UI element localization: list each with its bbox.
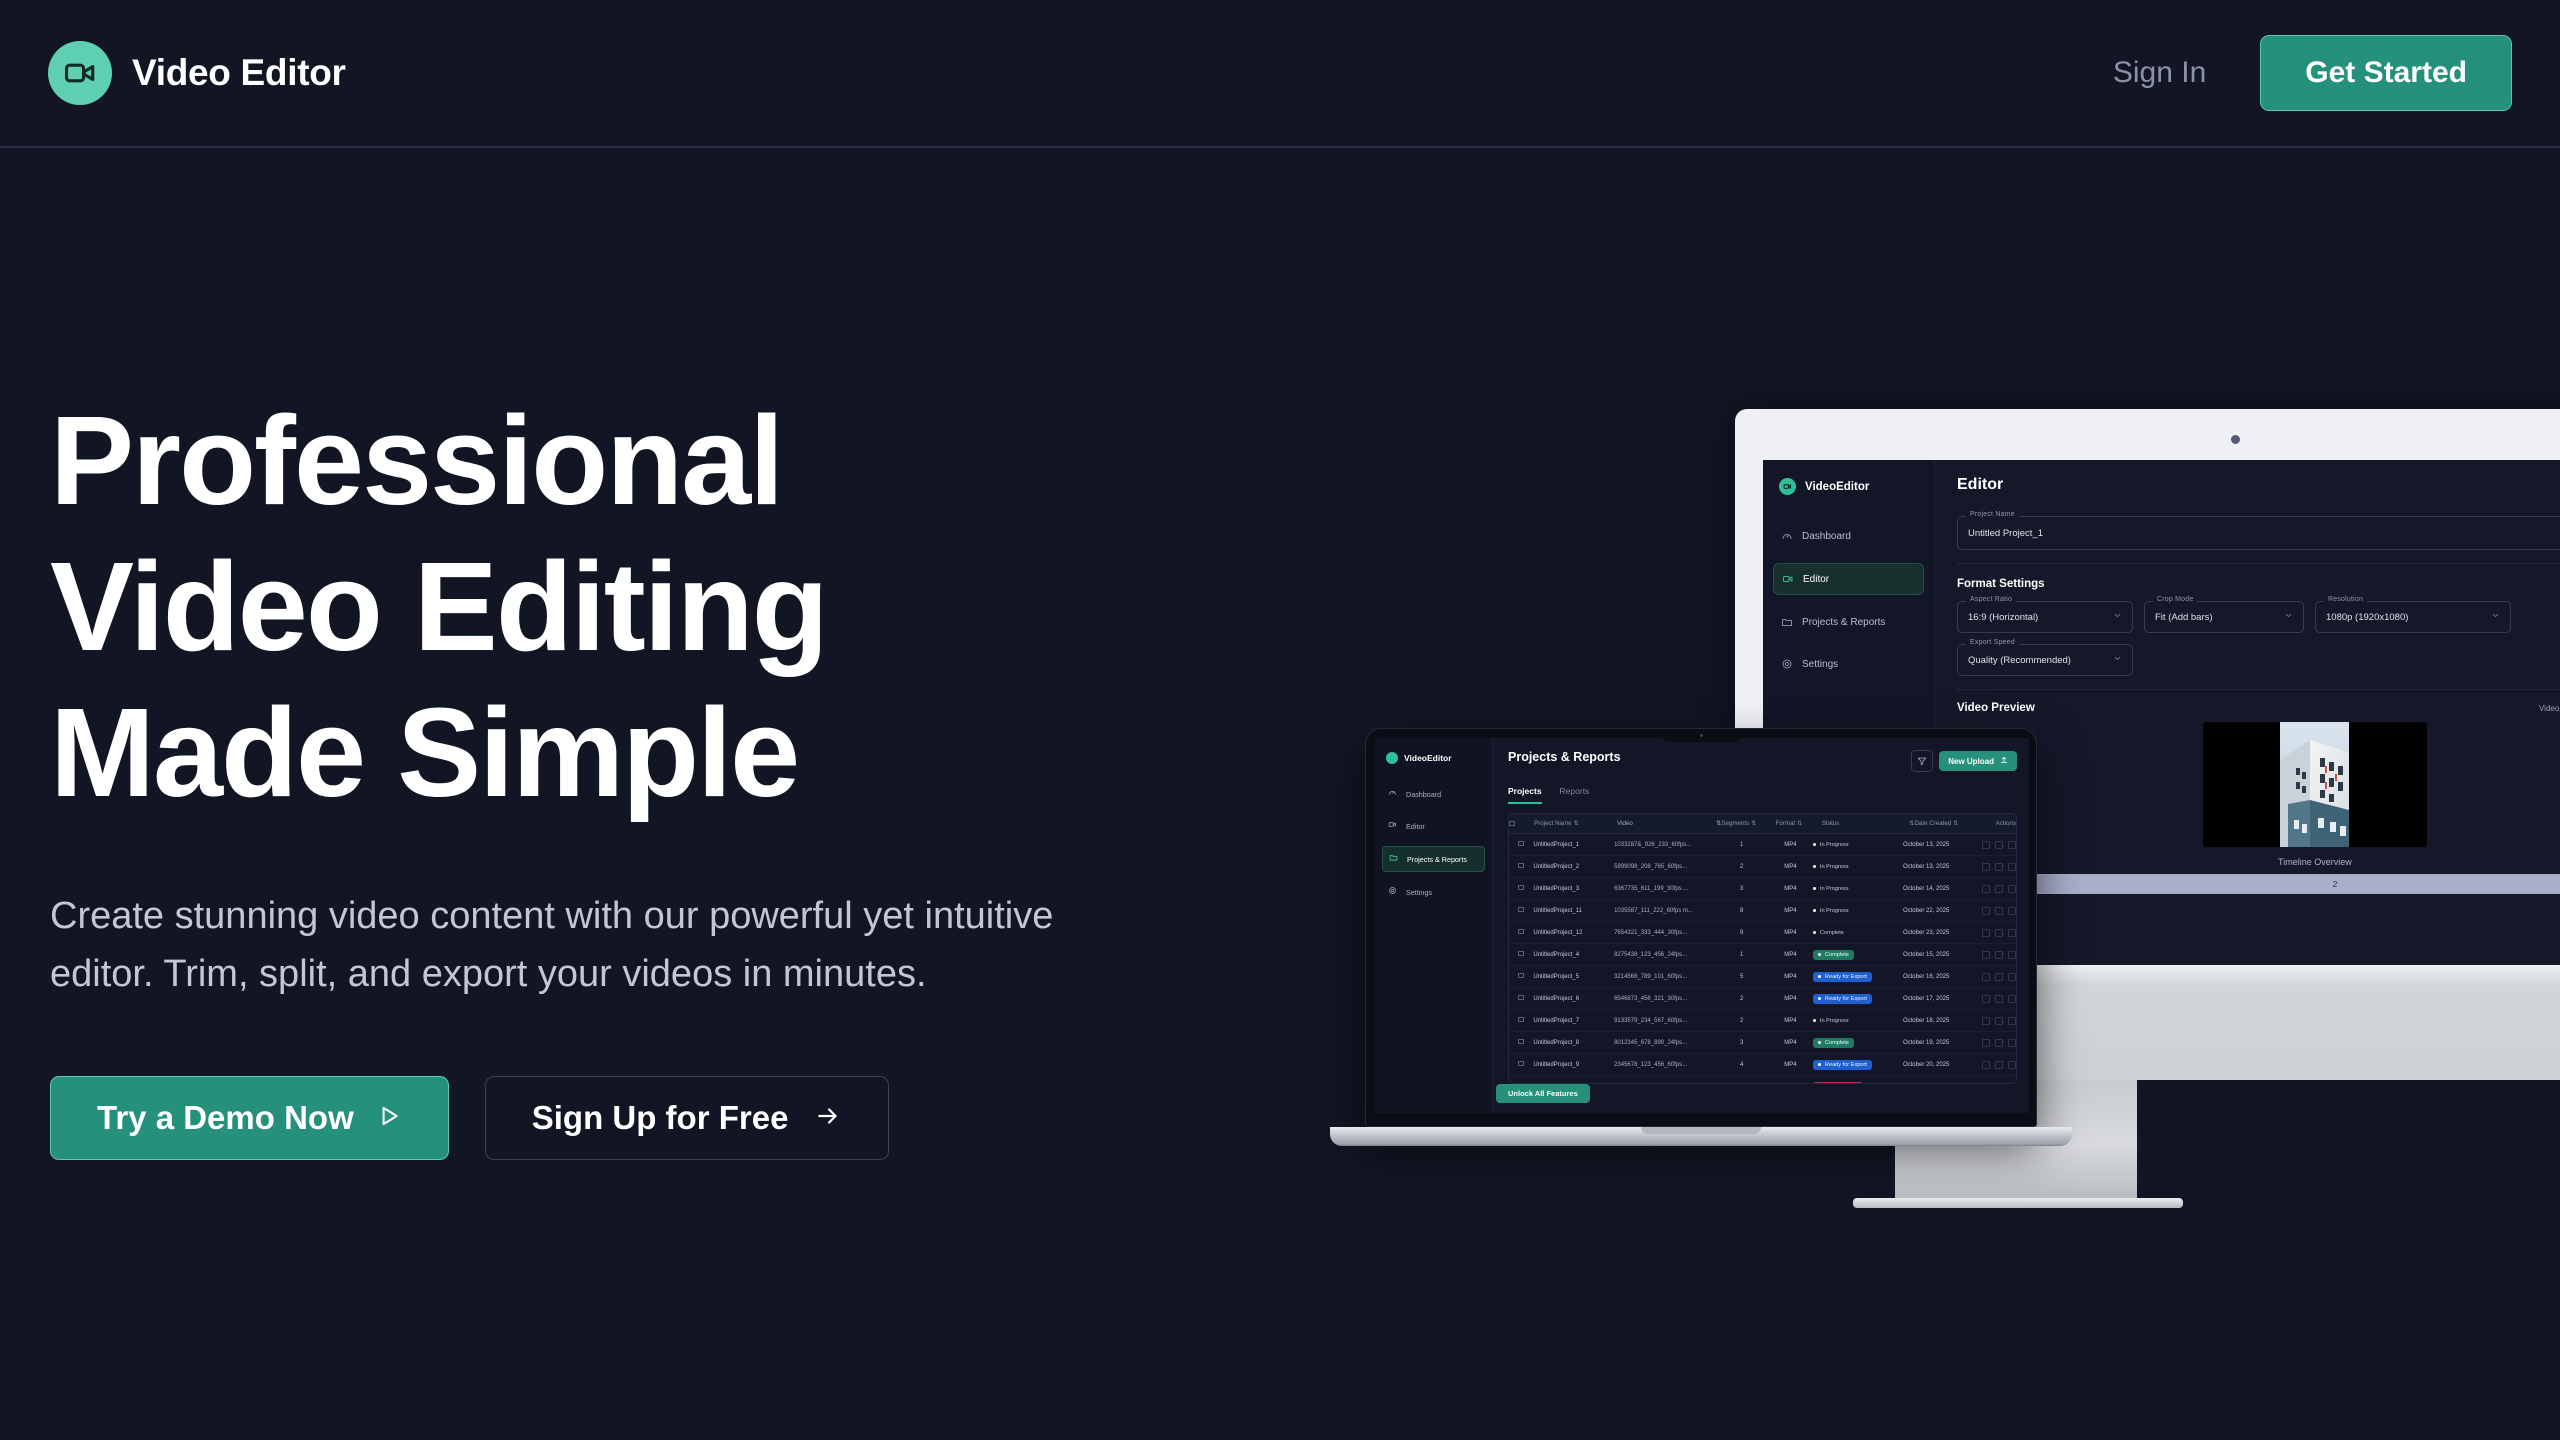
delete-icon[interactable] bbox=[2008, 973, 2016, 981]
row-checkbox[interactable] bbox=[1509, 841, 1533, 849]
cell-segments: 5 bbox=[1715, 974, 1768, 980]
project-name-field[interactable]: Project Name Untitled Project_1 bbox=[1957, 516, 2560, 550]
monitor-base bbox=[1853, 1198, 2183, 1208]
cell-actions[interactable] bbox=[1978, 1017, 2016, 1025]
webcam-icon bbox=[1662, 729, 1740, 742]
hero-section: Professional Video Editing Made Simple C… bbox=[0, 148, 1200, 1160]
cell-segments: 3 bbox=[1715, 886, 1768, 892]
column-status[interactable]: Status⇅ bbox=[1822, 820, 1915, 827]
cell-actions[interactable] bbox=[1978, 863, 2016, 871]
cell-status: Ready for Export bbox=[1813, 1060, 1903, 1070]
cell-video: 8012345_678_890_24fps... bbox=[1614, 1040, 1715, 1046]
sidebar-item-dashboard[interactable]: Dashboard bbox=[1382, 782, 1485, 806]
video-player[interactable] bbox=[2203, 722, 2427, 847]
cell-format: MP4 bbox=[1768, 974, 1813, 980]
column-project-name[interactable]: Project Name⇅ bbox=[1534, 820, 1617, 827]
cell-date-created: October 14, 2025 bbox=[1903, 886, 1978, 892]
edit-icon[interactable] bbox=[1982, 951, 1990, 959]
video-camera-icon bbox=[1388, 820, 1400, 832]
column-actions: Actions bbox=[1992, 820, 2016, 827]
export-speed-value: Quality (Recommended) bbox=[1968, 655, 2071, 666]
table-body: UntitledProject_11033287&_926_233_60fps.… bbox=[1509, 834, 2016, 1084]
cell-video: 1033287&_926_233_60fps... bbox=[1614, 842, 1715, 848]
cell-format: MP4 bbox=[1768, 1018, 1813, 1024]
player-size-control[interactable]: Video player size bbox=[2539, 704, 2560, 713]
cell-format: MP4 bbox=[1768, 908, 1813, 914]
tab-projects[interactable]: Projects bbox=[1508, 786, 1542, 804]
laptop-mockup: VideoEditor Dashboard Editor Projects & … bbox=[1365, 728, 2072, 1146]
delete-icon[interactable] bbox=[2008, 1039, 2016, 1047]
table-header: Project Name⇅ Video⇅ Segments⇅ Format⇅ S… bbox=[1509, 814, 2016, 834]
cell-format: MP4 bbox=[1768, 886, 1813, 892]
table-row[interactable]: UntitledProject_53214568_789_101_60fps..… bbox=[1509, 966, 2016, 988]
edit-icon[interactable] bbox=[1982, 929, 1990, 937]
table-row[interactable]: UntitledProject_25999098_208_765_60fps..… bbox=[1509, 856, 2016, 878]
cell-project-name: UntitledProject_2 bbox=[1533, 864, 1614, 870]
download-icon[interactable] bbox=[1995, 1039, 2003, 1047]
cell-actions[interactable] bbox=[1978, 1039, 2016, 1047]
column-date-created[interactable]: Date Created⇅ bbox=[1914, 820, 1991, 827]
download-icon[interactable] bbox=[1995, 973, 2003, 981]
site-header: Video Editor Sign In Get Started bbox=[0, 0, 2560, 148]
edit-icon[interactable] bbox=[1982, 995, 1990, 1003]
cell-segments: 2 bbox=[1715, 864, 1768, 870]
edit-icon[interactable] bbox=[1982, 1017, 1990, 1025]
cell-segments: 1 bbox=[1715, 842, 1768, 848]
divider bbox=[1957, 563, 2560, 564]
crop-mode-value: Fit (Add bars) bbox=[2155, 612, 2213, 623]
sidebar-label: Editor bbox=[1406, 822, 1425, 831]
aspect-ratio-select[interactable]: Aspect Ratio 16:9 (Horizontal) bbox=[1957, 601, 2133, 633]
cell-status: In Progress bbox=[1813, 906, 1903, 916]
row-checkbox[interactable] bbox=[1509, 929, 1533, 937]
table-row[interactable]: UntitledProject_92345678_123_456_60fps..… bbox=[1509, 1054, 2016, 1076]
select-all-checkbox[interactable] bbox=[1509, 820, 1534, 827]
cell-segments: 2 bbox=[1715, 996, 1768, 1002]
delete-icon[interactable] bbox=[2008, 907, 2016, 915]
cell-video: 9133579_234_567_60fps... bbox=[1614, 1018, 1715, 1024]
sidebar-label: Settings bbox=[1406, 888, 1432, 897]
row-checkbox[interactable] bbox=[1509, 1061, 1533, 1069]
cell-date-created: October 15, 2025 bbox=[1903, 952, 1978, 958]
cell-format: MP4 bbox=[1768, 996, 1813, 1002]
sort-icon: ⇅ bbox=[1751, 820, 1756, 827]
cell-date-created: October 13, 2025 bbox=[1903, 842, 1978, 848]
cell-status: In Progress bbox=[1813, 1016, 1903, 1026]
projects-table: Project Name⇅ Video⇅ Segments⇅ Format⇅ S… bbox=[1508, 813, 2017, 1084]
video-preview-header: Video Preview Video player size bbox=[1957, 702, 2560, 714]
laptop-lid: VideoEditor Dashboard Editor Projects & … bbox=[1365, 728, 2037, 1127]
sidebar-label: Settings bbox=[1802, 659, 1838, 670]
cell-actions[interactable] bbox=[1978, 951, 2016, 959]
cell-segments: 2 bbox=[1715, 1018, 1768, 1024]
cell-video: 2345678_123_456_60fps... bbox=[1614, 1062, 1715, 1068]
brand-logo-group[interactable]: Video Editor bbox=[48, 41, 346, 105]
download-icon[interactable] bbox=[1995, 841, 2003, 849]
row-checkbox[interactable] bbox=[1509, 973, 1533, 981]
cell-date-created: October 18, 2025 bbox=[1903, 1018, 1978, 1024]
monitor-brand-label: VideoEditor bbox=[1805, 481, 1869, 493]
gear-icon bbox=[1781, 658, 1793, 670]
cell-format: MP4 bbox=[1768, 1062, 1813, 1068]
edit-icon[interactable] bbox=[1982, 841, 1990, 849]
resolution-select[interactable]: Resolution 1080p (1920x1080) bbox=[2315, 601, 2511, 633]
play-triangle-icon bbox=[376, 1099, 402, 1137]
edit-icon[interactable] bbox=[1982, 885, 1990, 893]
row-checkbox[interactable] bbox=[1509, 951, 1533, 959]
cell-actions[interactable] bbox=[1978, 907, 2016, 915]
column-segments[interactable]: Segments⇅ bbox=[1721, 820, 1775, 827]
cell-project-name: UntitledProject_11 bbox=[1533, 908, 1614, 914]
cell-video: 5999098_208_765_60fps... bbox=[1614, 864, 1715, 870]
delete-icon[interactable] bbox=[2008, 995, 2016, 1003]
sidebar-item-projects-reports[interactable]: Projects & Reports bbox=[1382, 846, 1485, 872]
arrow-right-icon bbox=[814, 1099, 842, 1137]
cell-format: MP4 bbox=[1768, 842, 1813, 848]
divider bbox=[1957, 689, 2560, 690]
cell-segments: 8 bbox=[1715, 908, 1768, 914]
resolution-value: 1080p (1920x1080) bbox=[2326, 612, 2408, 623]
column-format[interactable]: Format⇅ bbox=[1775, 820, 1821, 827]
sign-up-label: Sign Up for Free bbox=[532, 1099, 789, 1137]
laptop-sidebar: VideoEditor Dashboard Editor Projects & … bbox=[1375, 738, 1493, 1113]
chevron-down-icon bbox=[2113, 611, 2122, 623]
cell-status: Ready for Export bbox=[1813, 972, 1903, 982]
sidebar-label: Dashboard bbox=[1406, 790, 1441, 799]
preview-building-photo bbox=[2280, 722, 2349, 847]
table-row[interactable]: UntitledProject_88012345_678_890_24fps..… bbox=[1509, 1032, 2016, 1054]
sort-icon: ⇅ bbox=[1953, 820, 1958, 827]
folder-icon bbox=[1781, 616, 1793, 628]
column-video[interactable]: Video⇅ bbox=[1617, 820, 1721, 827]
delete-icon[interactable] bbox=[2008, 1017, 2016, 1025]
table-row[interactable]: UntitledProject_105676543_987_654_30fps.… bbox=[1509, 1076, 2016, 1084]
sort-icon: ⇅ bbox=[1574, 820, 1579, 827]
edit-icon[interactable] bbox=[1982, 1039, 1990, 1047]
unlock-all-features-button[interactable]: Unlock All Features bbox=[1496, 1084, 1590, 1103]
sidebar-item-editor[interactable]: Editor bbox=[1773, 563, 1924, 595]
aspect-ratio-label: Aspect Ratio bbox=[1966, 596, 2016, 603]
export-speed-select[interactable]: Export Speed Quality (Recommended) bbox=[1957, 644, 2133, 676]
tab-reports[interactable]: Reports bbox=[1560, 786, 1590, 804]
hero-subtitle: Create stunning video content with our p… bbox=[50, 888, 1130, 1004]
edit-icon[interactable] bbox=[1982, 863, 1990, 871]
download-icon[interactable] bbox=[1995, 907, 2003, 915]
cell-format: MP4 bbox=[1768, 930, 1813, 936]
laptop-main: Projects & Reports New Upload Projects R… bbox=[1493, 738, 2029, 1113]
cell-actions[interactable] bbox=[1978, 841, 2016, 849]
cell-date-created: October 20, 2025 bbox=[1903, 1062, 1978, 1068]
gear-icon bbox=[1388, 886, 1400, 898]
header-actions: Sign In Get Started bbox=[2113, 35, 2512, 111]
format-settings-row-2: Export Speed Quality (Recommended) bbox=[1957, 644, 2560, 676]
table-row[interactable]: UntitledProject_127654321_333_444_30fps.… bbox=[1509, 922, 2016, 944]
sidebar-label: Dashboard bbox=[1802, 531, 1851, 542]
crop-mode-label: Crop Mode bbox=[2153, 596, 2197, 603]
delete-icon[interactable] bbox=[2008, 1061, 2016, 1069]
hero-cta-group: Try a Demo Now Sign Up for Free bbox=[50, 1076, 1200, 1160]
delete-icon[interactable] bbox=[2008, 885, 2016, 893]
cell-actions[interactable] bbox=[1978, 1061, 2016, 1069]
laptop-top-actions: New Upload bbox=[1911, 750, 2017, 772]
page-title: Professional Video Editing Made Simple bbox=[50, 388, 1200, 826]
table-row[interactable]: UntitledProject_48275438_123_456_24fps..… bbox=[1509, 944, 2016, 966]
chevron-down-icon bbox=[2491, 611, 2500, 623]
laptop-nav: Dashboard Editor Projects & Reports Sett… bbox=[1375, 782, 1492, 904]
brand-name: Video Editor bbox=[132, 52, 346, 94]
sign-up-button[interactable]: Sign Up for Free bbox=[485, 1076, 890, 1160]
new-upload-button[interactable]: New Upload bbox=[1939, 751, 2017, 771]
cell-actions[interactable] bbox=[1978, 885, 2016, 893]
cell-project-name: UntitledProject_7 bbox=[1533, 1018, 1614, 1024]
laptop-base bbox=[1330, 1127, 2072, 1146]
cell-actions[interactable] bbox=[1978, 929, 2016, 937]
row-checkbox[interactable] bbox=[1509, 863, 1533, 871]
cell-video: 6546873_456_321_30fps... bbox=[1614, 996, 1715, 1002]
sidebar-item-settings[interactable]: Settings bbox=[1382, 880, 1485, 904]
cell-segments: 9 bbox=[1715, 930, 1768, 936]
cell-date-created: October 16, 2025 bbox=[1903, 974, 1978, 980]
download-icon[interactable] bbox=[1995, 885, 2003, 893]
cell-status: Complete bbox=[1813, 1038, 1903, 1048]
laptop-tabs: Projects Reports bbox=[1508, 786, 2017, 804]
cell-status: Complete bbox=[1813, 950, 1903, 960]
chevron-down-icon bbox=[2113, 654, 2122, 666]
cell-status: In Progress bbox=[1813, 884, 1903, 894]
download-icon[interactable] bbox=[1995, 951, 2003, 959]
sidebar-item-dashboard[interactable]: Dashboard bbox=[1773, 521, 1924, 551]
sidebar-label: Editor bbox=[1803, 574, 1829, 585]
cell-status: In Progress bbox=[1813, 862, 1903, 872]
edit-icon[interactable] bbox=[1982, 1061, 1990, 1069]
cell-status: Ready for Export bbox=[1813, 994, 1903, 1004]
gauge-icon bbox=[1781, 530, 1793, 542]
row-checkbox[interactable] bbox=[1509, 1039, 1533, 1047]
delete-icon[interactable] bbox=[2008, 863, 2016, 871]
cell-actions[interactable] bbox=[1978, 995, 2016, 1003]
sidebar-label: Projects & Reports bbox=[1407, 855, 1467, 864]
download-icon[interactable] bbox=[1995, 995, 2003, 1003]
cell-date-created: October 19, 2025 bbox=[1903, 1040, 1978, 1046]
cell-status: In Progress bbox=[1813, 840, 1903, 850]
sort-icon: ⇅ bbox=[1797, 820, 1802, 827]
monitor-page-title: Editor bbox=[1957, 476, 2003, 494]
cell-segments: 3 bbox=[1715, 1040, 1768, 1046]
row-checkbox[interactable] bbox=[1509, 995, 1533, 1003]
row-checkbox[interactable] bbox=[1509, 907, 1533, 915]
cell-format: MP4 bbox=[1768, 952, 1813, 958]
project-name-value: Untitled Project_1 bbox=[1968, 528, 2043, 539]
cell-date-created: October 23, 2025 bbox=[1903, 930, 1978, 936]
cell-project-name: UntitledProject_9 bbox=[1533, 1062, 1614, 1068]
gauge-icon bbox=[1388, 788, 1400, 800]
cell-format: MP4 bbox=[1768, 1040, 1813, 1046]
edit-icon[interactable] bbox=[1982, 907, 1990, 915]
cell-segments: 1 bbox=[1715, 952, 1768, 958]
sidebar-item-projects-reports[interactable]: Projects & Reports bbox=[1773, 607, 1924, 637]
laptop-screen: VideoEditor Dashboard Editor Projects & … bbox=[1375, 738, 2029, 1113]
cell-project-name: UntitledProject_4 bbox=[1533, 952, 1614, 958]
delete-icon[interactable] bbox=[2008, 951, 2016, 959]
cell-project-name: UntitledProject_8 bbox=[1533, 1040, 1614, 1046]
video-camera-icon bbox=[48, 41, 112, 105]
laptop-brand-label: VideoEditor bbox=[1404, 753, 1452, 763]
sidebar-item-settings[interactable]: Settings bbox=[1773, 649, 1924, 679]
video-camera-icon bbox=[1779, 478, 1796, 495]
crop-mode-select[interactable]: Crop Mode Fit (Add bars) bbox=[2144, 601, 2304, 633]
export-speed-label: Export Speed bbox=[1966, 639, 2019, 646]
laptop-footer: Unlock All Features bbox=[1508, 1084, 2017, 1113]
video-camera-icon bbox=[1782, 573, 1794, 585]
cell-status: Complete bbox=[1813, 928, 1903, 938]
upload-icon bbox=[2000, 756, 2008, 766]
cell-video: 8275438_123_456_24fps... bbox=[1614, 952, 1715, 958]
aspect-ratio-value: 16:9 (Horizontal) bbox=[1968, 612, 2038, 623]
sidebar-item-editor[interactable]: Editor bbox=[1382, 814, 1485, 838]
table-row[interactable]: UntitledProject_11033287&_926_233_60fps.… bbox=[1509, 834, 2016, 856]
cell-project-name: UntitledProject_5 bbox=[1533, 974, 1614, 980]
download-icon[interactable] bbox=[1995, 863, 2003, 871]
monitor-topbar: Editor Save Exp bbox=[1957, 476, 2560, 502]
webcam-icon bbox=[2231, 435, 2240, 444]
resolution-label: Resolution bbox=[2324, 596, 2367, 603]
laptop-page-title: Projects & Reports bbox=[1508, 750, 1621, 764]
row-checkbox[interactable] bbox=[1509, 885, 1533, 893]
delete-icon[interactable] bbox=[2008, 841, 2016, 849]
laptop-topbar: Projects & Reports New Upload bbox=[1508, 750, 2017, 772]
cell-video: 7654321_333_444_30fps... bbox=[1614, 930, 1715, 936]
edit-icon[interactable] bbox=[1982, 973, 1990, 981]
laptop-brand: VideoEditor bbox=[1375, 752, 1492, 764]
try-demo-label: Try a Demo Now bbox=[97, 1099, 354, 1137]
new-upload-label: New Upload bbox=[1948, 757, 1994, 766]
monitor-brand: VideoEditor bbox=[1763, 478, 1934, 495]
cell-format: MP4 bbox=[1768, 864, 1813, 870]
cell-project-name: UntitledProject_6 bbox=[1533, 996, 1614, 1002]
format-settings-title: Format Settings bbox=[1957, 578, 2560, 590]
sidebar-label: Projects & Reports bbox=[1802, 617, 1885, 628]
table-row[interactable]: UntitledProject_111035587_111_222_60fps … bbox=[1509, 900, 2016, 922]
filter-icon[interactable] bbox=[1911, 750, 1933, 772]
get-started-button[interactable]: Get Started bbox=[2260, 35, 2512, 111]
try-demo-button[interactable]: Try a Demo Now bbox=[50, 1076, 449, 1160]
video-preview-title: Video Preview bbox=[1957, 702, 2035, 714]
project-name-label: Project Name bbox=[1966, 511, 2019, 518]
chevron-down-icon bbox=[2284, 611, 2293, 623]
download-icon[interactable] bbox=[1995, 1061, 2003, 1069]
table-row[interactable]: UntitledProject_79133579_234_567_60fps..… bbox=[1509, 1010, 2016, 1032]
cell-video: 6367735_611_199_30fps ... bbox=[1614, 886, 1715, 892]
cell-segments: 4 bbox=[1715, 1062, 1768, 1068]
table-row[interactable]: UntitledProject_66546873_456_321_30fps..… bbox=[1509, 988, 2016, 1010]
cell-project-name: UntitledProject_12 bbox=[1533, 930, 1614, 936]
cell-date-created: October 22, 2025 bbox=[1903, 908, 1978, 914]
cell-project-name: UntitledProject_3 bbox=[1533, 886, 1614, 892]
cell-video: 1035587_111_222_60fps m... bbox=[1614, 908, 1715, 914]
cell-date-created: October 17, 2025 bbox=[1903, 996, 1978, 1002]
delete-icon[interactable] bbox=[2008, 929, 2016, 937]
cell-project-name: UntitledProject_1 bbox=[1533, 842, 1614, 848]
timeline-overview-label: Timeline Overview bbox=[2278, 857, 2352, 867]
download-icon[interactable] bbox=[1995, 1017, 2003, 1025]
player-size-label: Video player size bbox=[2539, 704, 2560, 713]
download-icon[interactable] bbox=[1995, 929, 2003, 937]
cell-date-created: October 13, 2025 bbox=[1903, 864, 1978, 870]
table-row[interactable]: UntitledProject_36367735_611_199_30fps .… bbox=[1509, 878, 2016, 900]
monitor-nav: Dashboard Editor Projects & Reports Sett… bbox=[1763, 521, 1934, 679]
folder-icon bbox=[1389, 853, 1401, 865]
video-camera-icon bbox=[1386, 752, 1398, 764]
cell-video: 3214568_789_101_60fps... bbox=[1614, 974, 1715, 980]
sign-in-link[interactable]: Sign In bbox=[2113, 56, 2206, 90]
cell-actions[interactable] bbox=[1978, 973, 2016, 981]
row-checkbox[interactable] bbox=[1509, 1017, 1533, 1025]
format-settings-row-1: Aspect Ratio 16:9 (Horizontal) Crop Mode… bbox=[1957, 601, 2560, 633]
